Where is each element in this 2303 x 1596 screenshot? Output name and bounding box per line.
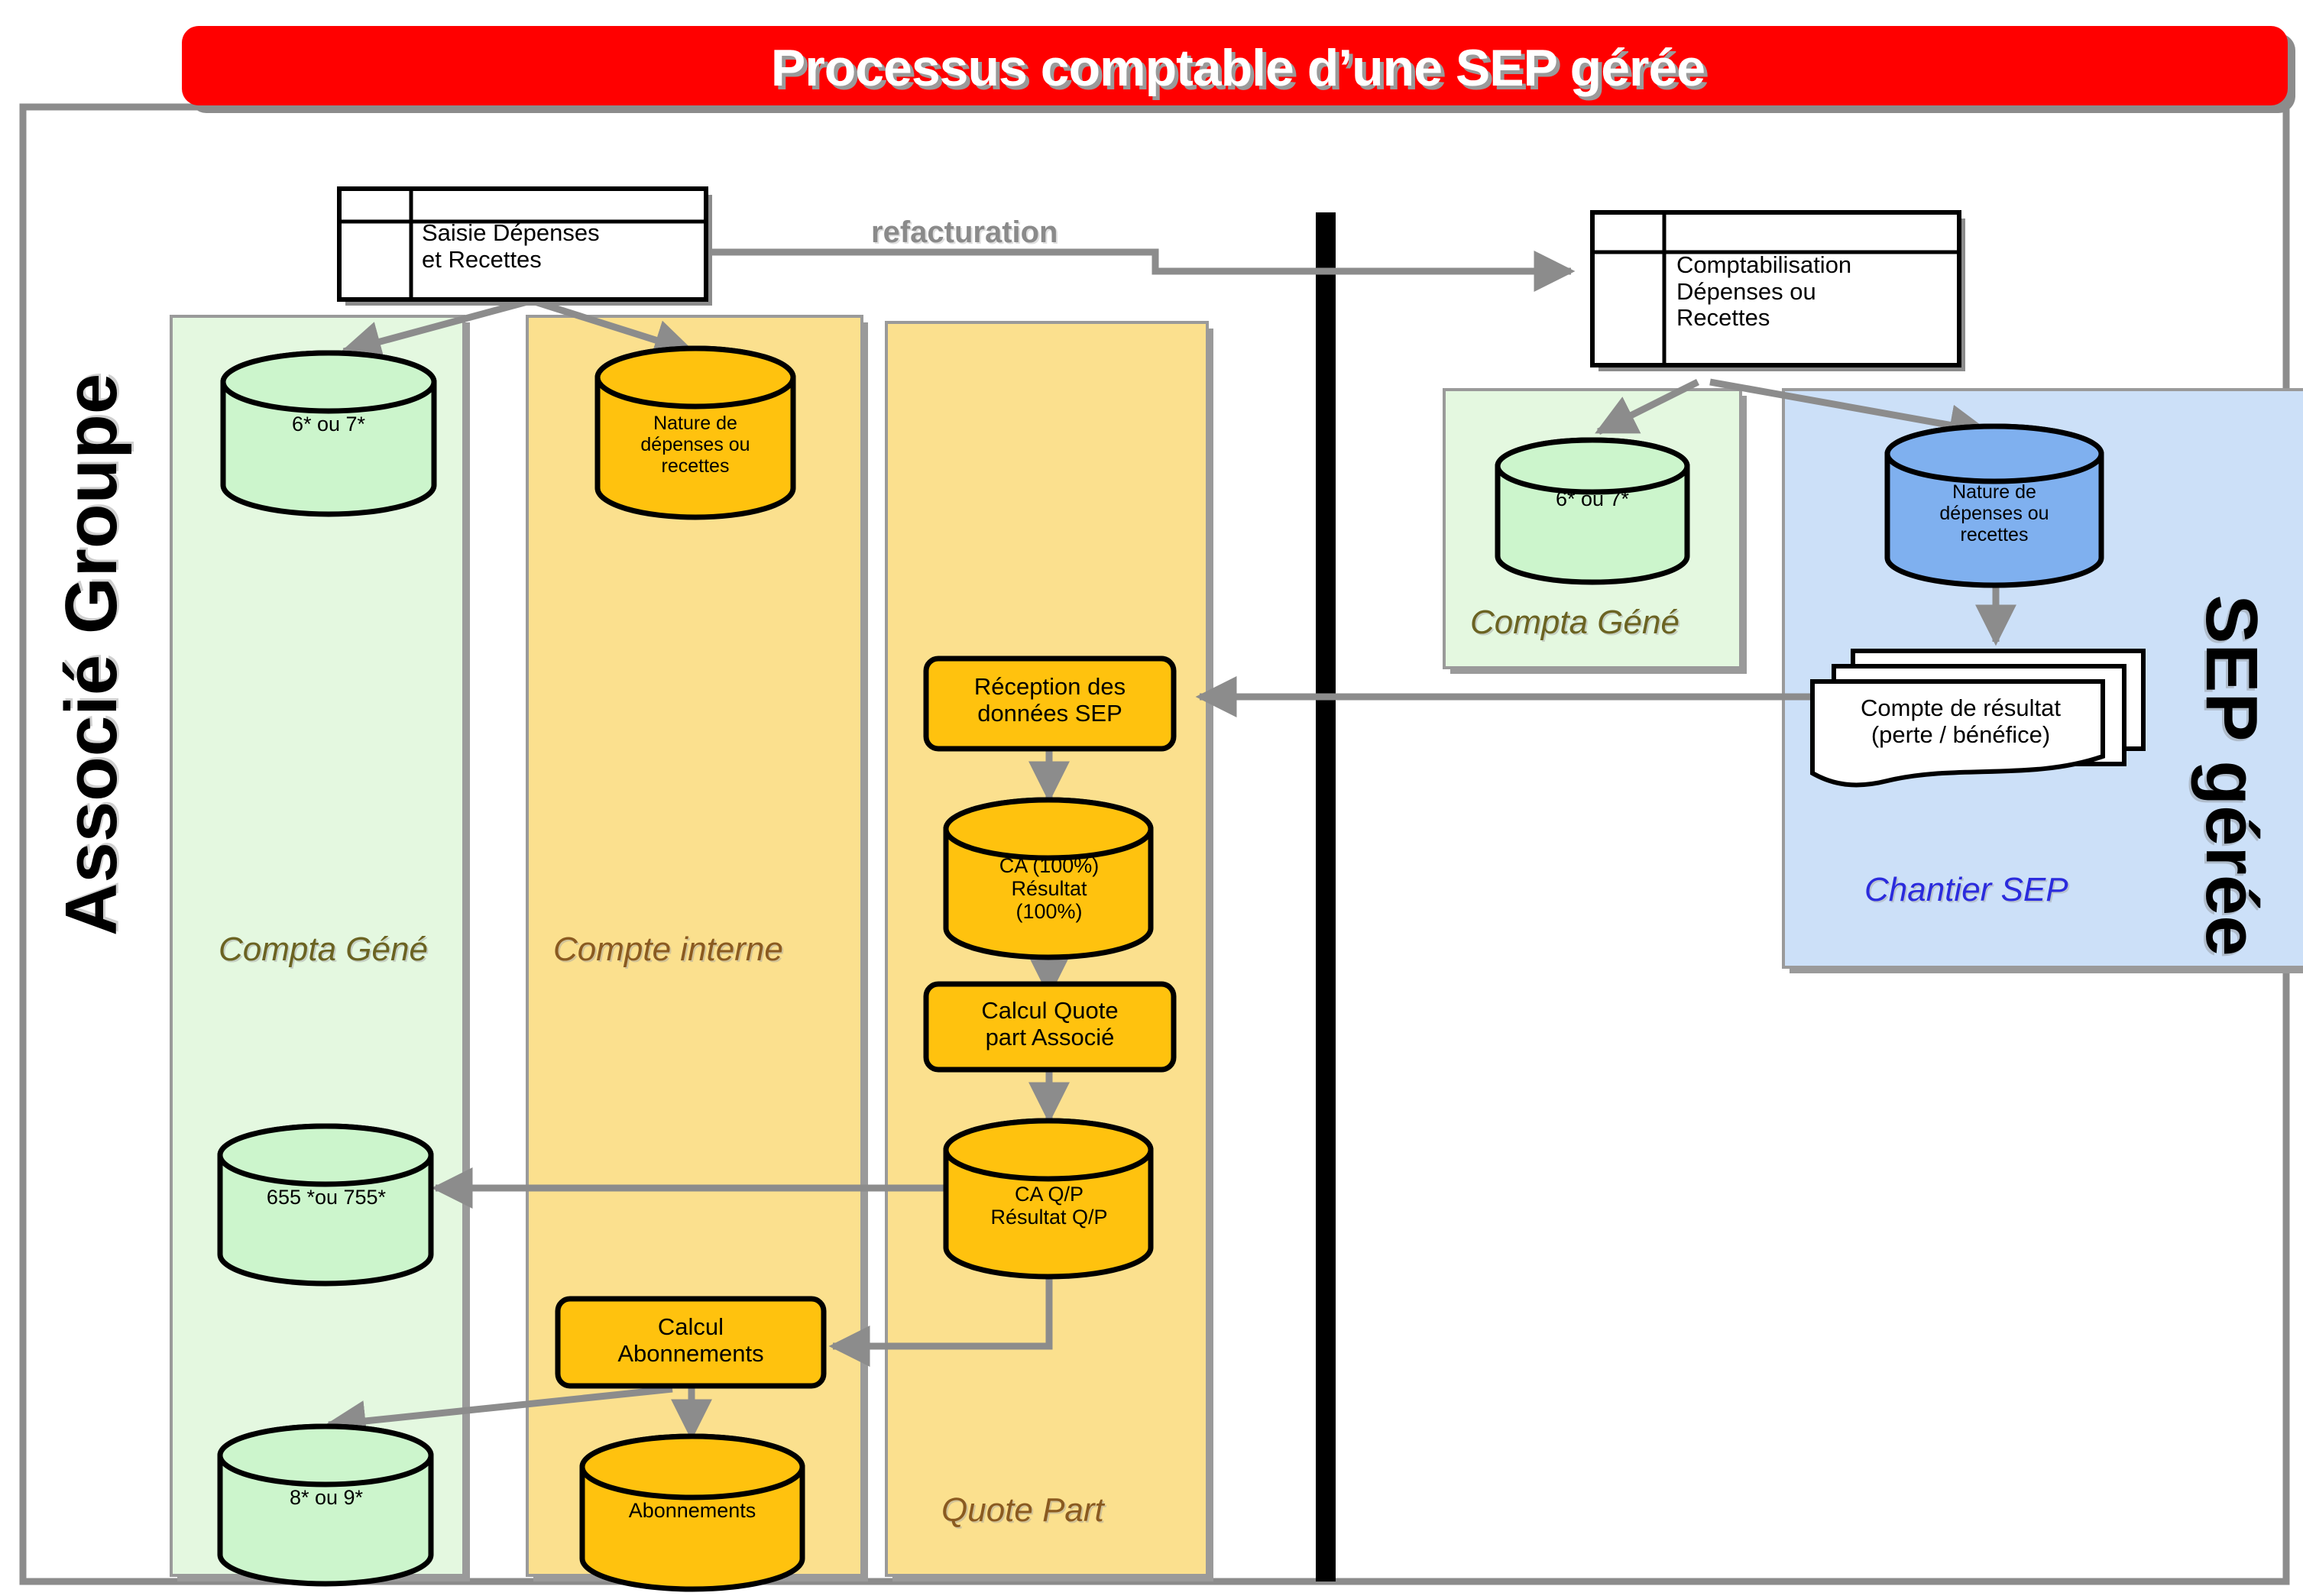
band-label-compta-gene-left: Compta Géné <box>219 931 428 969</box>
box-calcul-quote-part <box>926 984 1174 1070</box>
swimlane-label-sep-geree: SEP gérée <box>2189 485 2273 1066</box>
box-reception-donnees-sep <box>926 659 1174 749</box>
swimlane-label-associe-groupe: Associé Groupe <box>50 432 134 936</box>
cylinder-ca-qp <box>946 1121 1151 1277</box>
band-label-compta-gene-right: Compta Géné <box>1470 604 1679 642</box>
cylinder-6-ou-7-left <box>223 353 434 514</box>
cylinder-655-755 <box>220 1126 431 1284</box>
box-calcul-abonnements <box>558 1299 824 1386</box>
box-comptabilisation <box>1592 212 1965 371</box>
doc-compte-de-resultat <box>1812 651 2143 785</box>
band-label-compte-interne: Compte interne <box>553 931 783 969</box>
diagram-canvas: Processus comptable d’une SEP gérée Asso… <box>0 0 2303 1596</box>
cylinder-8-ou-9 <box>220 1426 431 1584</box>
edge-label-refacturation: refacturation <box>871 215 1058 250</box>
cylinder-abonnements <box>582 1436 802 1589</box>
band-label-chantier-sep: Chantier SEP <box>1864 871 2068 909</box>
diagram-svg <box>0 0 2303 1596</box>
cylinder-nature-left <box>598 348 793 517</box>
cylinder-6-ou-7-right <box>1498 440 1687 582</box>
box-saisie-depenses-recettes <box>339 189 712 306</box>
arrow-refacturation <box>708 252 1571 271</box>
band-label-quote-part: Quote Part <box>941 1491 1104 1530</box>
page-title: Processus comptable d’une SEP gérée <box>183 28 2292 108</box>
cylinder-ca-100 <box>946 800 1151 957</box>
cylinder-nature-right <box>1887 426 2101 585</box>
swimlane-divider <box>1316 212 1336 1581</box>
